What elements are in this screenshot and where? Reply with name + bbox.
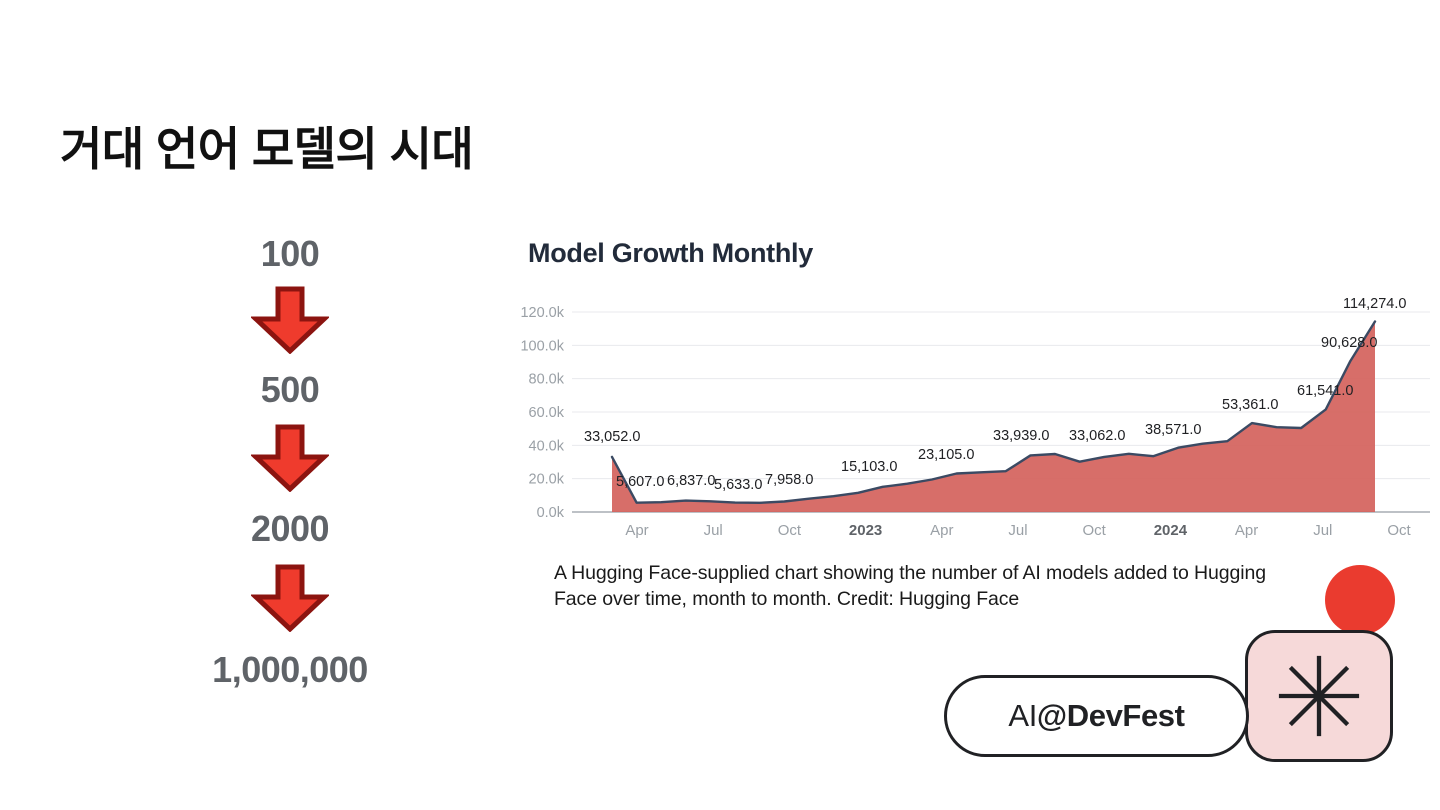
svg-text:Oct: Oct (1083, 522, 1107, 539)
chart-title: Model Growth Monthly (528, 238, 813, 269)
area-chart: 0.0k20.0k40.0k60.0k80.0k100.0k120.0kAprJ… (520, 292, 1440, 540)
growth-funnel: 100 500 2000 1,000,000 (165, 228, 415, 688)
slide-root: 거대 언어 모델의 시대 100 500 2000 1,000,000 Mode… (0, 0, 1440, 810)
svg-text:80.0k: 80.0k (529, 372, 565, 388)
svg-text:61,541.0: 61,541.0 (1297, 383, 1353, 399)
svg-text:23,105.0: 23,105.0 (918, 447, 974, 463)
svg-text:38,571.0: 38,571.0 (1145, 422, 1201, 438)
logo-pill: AI@DevFest (944, 675, 1249, 757)
svg-text:5,633.0: 5,633.0 (714, 477, 762, 493)
funnel-value-2: 500 (261, 372, 320, 408)
svg-text:0.0k: 0.0k (537, 505, 565, 521)
svg-text:Jul: Jul (1313, 522, 1332, 539)
logo-pill-text: AI@DevFest (1008, 698, 1184, 734)
svg-text:33,939.0: 33,939.0 (993, 428, 1049, 444)
svg-text:2024: 2024 (1154, 522, 1188, 539)
svg-text:53,361.0: 53,361.0 (1222, 397, 1278, 413)
svg-text:Apr: Apr (930, 522, 953, 539)
svg-text:Oct: Oct (778, 522, 802, 539)
svg-text:2023: 2023 (849, 522, 882, 539)
svg-text:33,052.0: 33,052.0 (584, 429, 640, 445)
funnel-value-1: 100 (261, 236, 320, 272)
svg-text:7,958.0: 7,958.0 (765, 472, 813, 488)
svg-text:33,062.0: 33,062.0 (1069, 428, 1125, 444)
down-arrow-icon (251, 286, 329, 354)
chart-panel: Model Growth Monthly 0.0k20.0k40.0k60.0k… (520, 230, 1440, 540)
devfest-logo: AI@DevFest (940, 560, 1410, 775)
logo-asterisk-tile-icon (1245, 630, 1393, 762)
page-title: 거대 언어 모델의 시대 (60, 123, 473, 176)
svg-text:Apr: Apr (625, 522, 648, 539)
svg-text:114,274.0: 114,274.0 (1343, 296, 1406, 312)
svg-text:90,628.0: 90,628.0 (1321, 335, 1377, 351)
down-arrow-icon (251, 424, 329, 492)
funnel-value-3: 2000 (251, 511, 329, 547)
svg-text:15,103.0: 15,103.0 (841, 459, 897, 475)
logo-text-ai: AI (1008, 698, 1037, 733)
logo-red-dot-icon (1325, 565, 1395, 635)
down-arrow-icon (251, 564, 329, 632)
svg-text:120.0k: 120.0k (520, 305, 564, 321)
svg-text:Oct: Oct (1387, 522, 1411, 539)
svg-text:Apr: Apr (1235, 522, 1258, 539)
svg-text:5,607.0: 5,607.0 (616, 474, 664, 490)
funnel-value-4: 1,000,000 (212, 652, 368, 688)
svg-text:20.0k: 20.0k (529, 472, 565, 488)
svg-text:60.0k: 60.0k (529, 405, 565, 421)
svg-text:Jul: Jul (1008, 522, 1027, 539)
svg-text:6,837.0: 6,837.0 (667, 473, 715, 489)
svg-text:Jul: Jul (704, 522, 723, 539)
logo-text-devfest: @DevFest (1037, 698, 1185, 733)
svg-text:100.0k: 100.0k (520, 338, 564, 354)
svg-text:40.0k: 40.0k (529, 438, 565, 454)
